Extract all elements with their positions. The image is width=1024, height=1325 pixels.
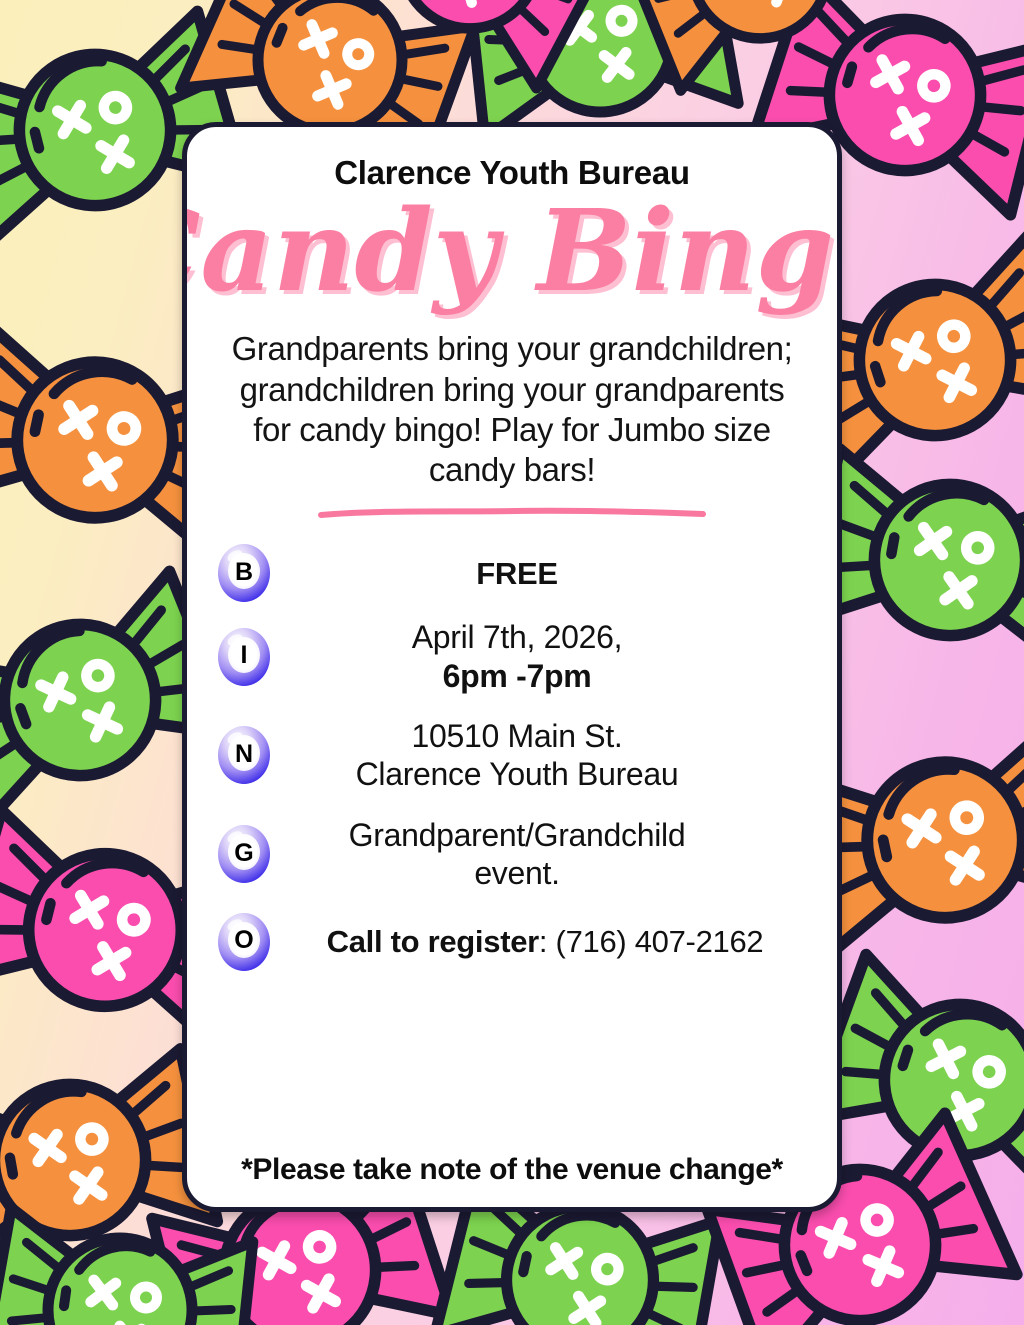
venue-change-note: *Please take note of the venue change* bbox=[213, 1153, 811, 1187]
detail-row-address: N 10510 Main St. Clarence Youth Bureau bbox=[213, 717, 811, 794]
detail-row-text: FREE bbox=[285, 554, 811, 592]
detail-row-text: Grandparent/Grandchild event. bbox=[285, 816, 811, 893]
detail-row-text: Call to register: (716) 407-2162 bbox=[285, 923, 811, 960]
intro-paragraph: Grandparents bring your grandchildren; g… bbox=[213, 329, 811, 490]
detail-row-datetime: I April 7th, 2026, 6pm -7pm bbox=[213, 618, 811, 695]
detail-row-price: B FREE bbox=[213, 542, 811, 604]
bingo-ball-letter: O bbox=[213, 911, 275, 973]
audience-line-2: event. bbox=[285, 854, 749, 892]
bingo-ball-letter: G bbox=[213, 823, 275, 885]
flyer-card: Clarence Youth Bureau Candy Bingo Candy … bbox=[182, 122, 842, 1212]
register-label: Call to register bbox=[327, 924, 539, 959]
price-value: FREE bbox=[476, 556, 557, 591]
address-venue: Clarence Youth Bureau bbox=[285, 755, 749, 793]
bingo-ball-icon: N bbox=[213, 724, 275, 786]
bingo-ball-letter: N bbox=[213, 724, 275, 786]
detail-row-text: 10510 Main St. Clarence Youth Bureau bbox=[285, 717, 811, 794]
detail-row-register: O Call to register: (716) 407-2162 bbox=[213, 911, 811, 973]
event-time: 6pm -7pm bbox=[285, 657, 749, 695]
register-phone[interactable]: : (716) 407-2162 bbox=[539, 924, 763, 959]
bingo-ball-icon: O bbox=[213, 911, 275, 973]
bingo-ball-icon: I bbox=[213, 626, 275, 688]
bingo-ball-icon: G bbox=[213, 823, 275, 885]
audience-line-1: Grandparent/Grandchild bbox=[285, 816, 749, 854]
brush-underline-icon bbox=[317, 506, 707, 520]
event-date: April 7th, 2026, bbox=[285, 618, 749, 656]
bingo-ball-icon: B bbox=[213, 542, 275, 604]
detail-row-audience: G Grandparent/Grandchild event. bbox=[213, 816, 811, 893]
bingo-ball-letter: I bbox=[213, 626, 275, 688]
event-title-text: Candy Bingo bbox=[182, 186, 842, 317]
address-street: 10510 Main St. bbox=[285, 717, 749, 755]
event-title: Candy Bingo Candy Bingo bbox=[182, 182, 842, 342]
details-list: B FREE bbox=[213, 536, 811, 1131]
bingo-ball-letter: B bbox=[213, 542, 275, 604]
title-block: Candy Bingo Candy Bingo bbox=[213, 187, 811, 337]
detail-row-text: April 7th, 2026, 6pm -7pm bbox=[285, 618, 811, 695]
candy-bingo-flyer: Clarence Youth Bureau Candy Bingo Candy … bbox=[0, 0, 1024, 1325]
